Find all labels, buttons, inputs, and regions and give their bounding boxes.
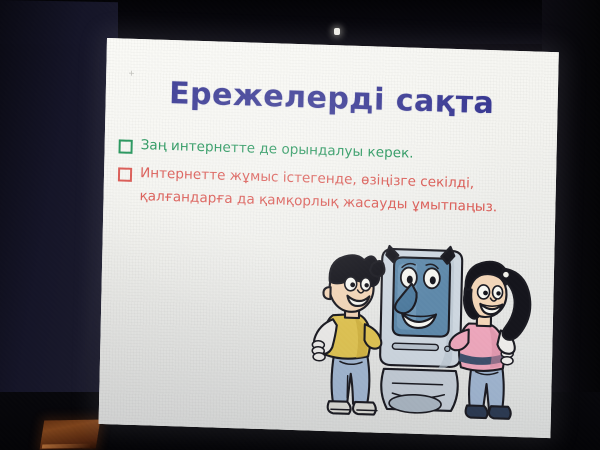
presentation-slide: + Ережелерді сақта Заң интернетте де оры… (99, 38, 559, 438)
kids-with-computer-cartoon: .ol { stroke:#1b1b22; stroke-width:2.1; … (295, 240, 547, 424)
bullet-square-icon-red (118, 167, 132, 181)
bullet-item-1-text: Заң интернетте де орындалуы керек. (140, 137, 546, 167)
slide-title: Ережелерді сақта (105, 74, 558, 123)
light-reflection-dot (334, 28, 340, 35)
copper-object (40, 420, 101, 450)
slide-bullet-list: Заң интернетте де орындалуы керек. Интер… (117, 136, 547, 228)
photo-frame: + Ережелерді сақта Заң интернетте де оры… (0, 0, 600, 450)
bullet-item-1: Заң интернетте де орындалуы керек. (118, 136, 546, 167)
bullet-square-icon-green (118, 139, 132, 153)
